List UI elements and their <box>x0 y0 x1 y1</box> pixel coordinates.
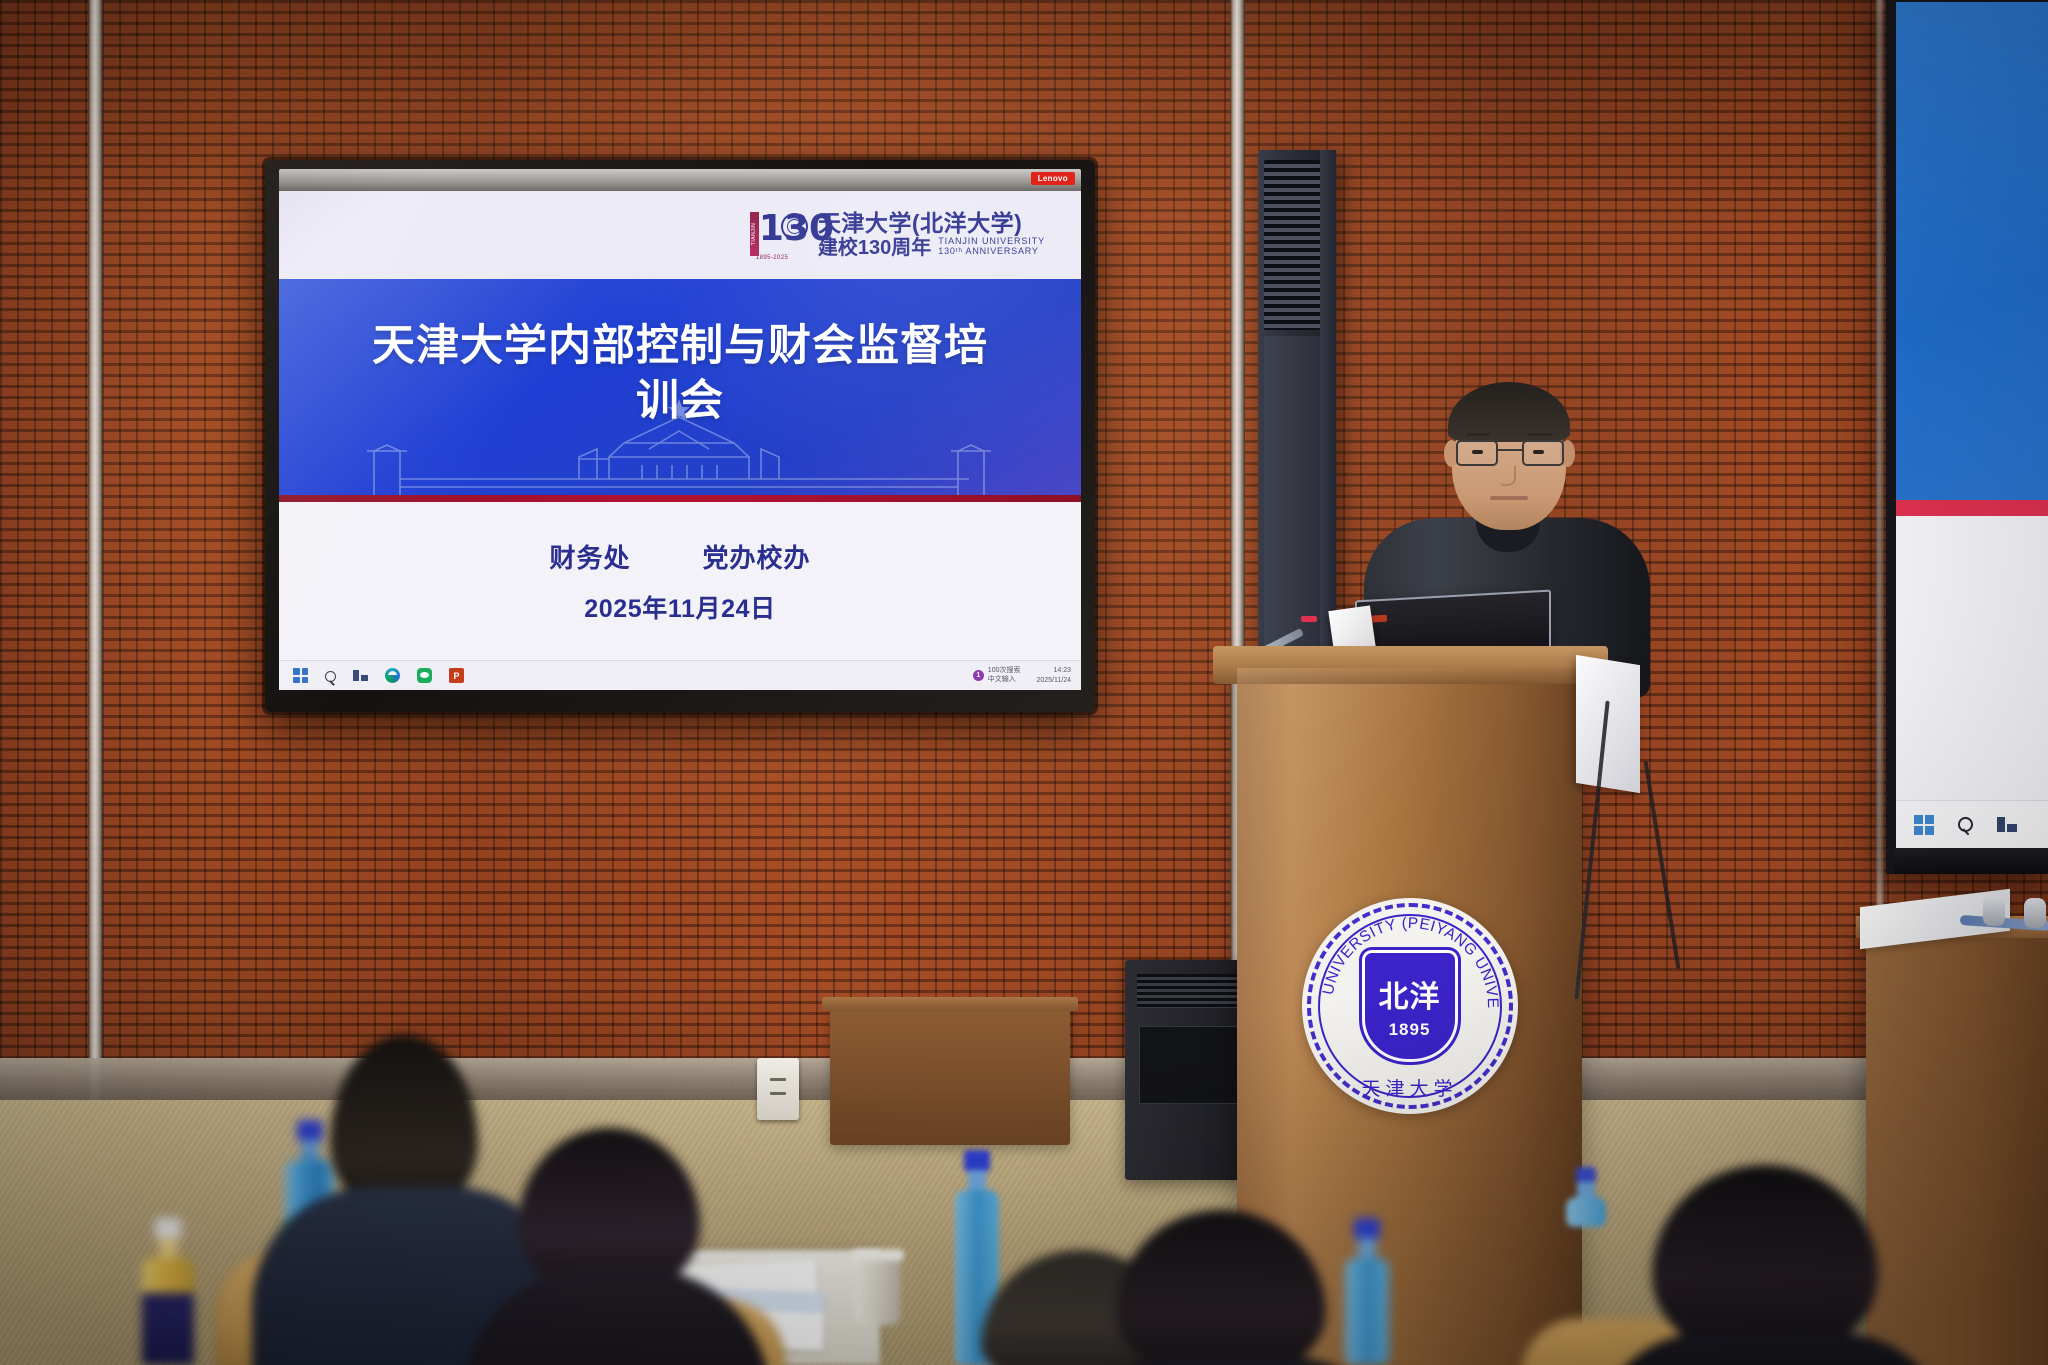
slide-title: 天津大学内部控制与财会监督培训会 <box>367 319 993 429</box>
audience-member <box>1620 1165 1920 1365</box>
anniversary-sidebar-text: TIANJIN <box>751 223 757 245</box>
water-bottle[interactable] <box>1566 1167 1606 1227</box>
powerpoint-icon[interactable]: P <box>449 668 464 683</box>
presenter-eye-right <box>1533 450 1544 454</box>
presenter-nose <box>1500 466 1516 486</box>
slide-footer: 财务处 党办校办 2025年11月24日 <box>279 502 1081 660</box>
display-screen[interactable]: TIANJIN 130 1895-2025 天津大学(北洋大学) 建校130周年 <box>279 191 1081 690</box>
presenter-eyebrow-right <box>1528 433 1552 436</box>
power-outlet[interactable] <box>757 1058 799 1120</box>
clock-time: 14:23 <box>1053 667 1071 674</box>
anniversary-ring-icon <box>781 213 808 240</box>
eyeglass-bridge <box>1498 449 1522 451</box>
anniversary-sidebar: TIANJIN <box>750 212 759 256</box>
secondary-display-screen[interactable] <box>1896 2 2048 848</box>
secondary-windows-taskbar[interactable] <box>1896 800 2048 848</box>
anniversary-logo: TIANJIN 130 1895-2025 天津大学(北洋大学) 建校130周年 <box>748 210 1045 260</box>
audience-shoulders <box>1594 1333 1950 1365</box>
speaker-grille <box>1264 160 1320 330</box>
organizer-list: 财务处 党办校办 <box>549 538 810 575</box>
side-microphone[interactable] <box>1983 896 2005 926</box>
beverage-bottle[interactable] <box>142 1218 194 1365</box>
clock-date: 2025/11/24 <box>1036 677 1071 684</box>
taskbar-clock[interactable]: 14:23 2025/11/24 <box>1036 666 1071 684</box>
bottle-cap <box>964 1150 990 1172</box>
university-name-cn: 天津大学(北洋大学) <box>818 211 1045 237</box>
task-view-icon[interactable] <box>1997 815 2017 835</box>
audience-member <box>490 1128 740 1365</box>
emblem-founded-year: 1895 <box>1389 1020 1431 1040</box>
display-bezel: Lenovo <box>279 169 1081 191</box>
conference-room-photo: Lenovo TIANJIN 130 1895-2025 <box>0 0 2048 1365</box>
start-icon[interactable] <box>293 668 308 683</box>
search-icon[interactable] <box>325 671 336 682</box>
taskbar-system-tray[interactable]: 1 100次搜索 中文输入 14:23 2025/11/24 <box>973 661 1071 690</box>
rack-slot <box>1139 1026 1242 1104</box>
secondary-display-bezel <box>1894 848 2048 874</box>
audience-head <box>1116 1210 1326 1365</box>
organizer-party-office: 党办校办 <box>703 538 811 575</box>
anniversary-en: 130ᵗʰ ANNIVERSARY <box>938 247 1045 257</box>
edge-browser-icon[interactable] <box>385 668 400 683</box>
windows-taskbar[interactable]: P 1 100次搜索 中文输入 14:23 2025/11/24 <box>279 660 1081 690</box>
organizer-finance: 财务处 <box>549 538 630 575</box>
task-view-icon[interactable] <box>353 668 368 683</box>
laptop-indicator <box>1371 615 1387 623</box>
slide-date: 2025年11月24日 <box>584 589 775 625</box>
slide-accent-rule <box>279 495 1081 502</box>
audience-shoulders <box>464 1268 770 1365</box>
anniversary-mark-icon: TIANJIN 130 1895-2025 <box>748 210 808 260</box>
bottle-body <box>1345 1258 1389 1365</box>
start-icon[interactable] <box>1914 815 1934 835</box>
university-emblem: TIANJIN UNIVERSITY (PEIYANG UNIVERSITY) … <box>1302 898 1518 1114</box>
secondary-slide-footer <box>1896 516 2048 800</box>
main-display-panel[interactable]: Lenovo TIANJIN 130 1895-2025 <box>265 160 1095 712</box>
rack-vent <box>1137 974 1248 1008</box>
ime-badge: 1 <box>973 670 984 681</box>
ime-status-line2: 中文输入 <box>988 676 1016 683</box>
audience-member <box>1090 1210 1370 1365</box>
emblem-bottom-text: 天津大学 <box>1302 1074 1518 1101</box>
slide-header: TIANJIN 130 1895-2025 天津大学(北洋大学) 建校130周年 <box>279 191 1081 279</box>
bottle-cap <box>155 1218 181 1240</box>
side-microphone[interactable] <box>2024 898 2046 928</box>
slide-body: 天津大学内部控制与财会监督培训会 <box>279 279 1081 495</box>
microphone-indicator-light <box>1301 616 1317 622</box>
wechat-icon[interactable] <box>417 668 432 683</box>
bottle-cap <box>1354 1218 1380 1240</box>
secondary-display-panel[interactable] <box>1886 0 2048 874</box>
presenter-eyebrow-left <box>1466 433 1490 436</box>
presenter-mouth <box>1490 496 1528 500</box>
lenovo-logo: Lenovo <box>1031 172 1075 185</box>
audience-member <box>300 1035 520 1365</box>
search-icon[interactable] <box>1958 817 1973 832</box>
secondary-slide-body <box>1896 2 2048 500</box>
bottle-body <box>142 1258 194 1365</box>
speaker-side-panel <box>1320 150 1336 690</box>
water-bottle[interactable] <box>1345 1218 1389 1365</box>
ime-status-line1: 100次搜索 <box>988 667 1021 674</box>
emblem-shield: 北洋 1895 <box>1362 950 1458 1062</box>
anniversary-years: 1895-2025 <box>756 255 788 261</box>
audience-head <box>1652 1165 1878 1355</box>
paper-cup[interactable] <box>855 1255 901 1325</box>
side-table <box>830 1005 1070 1145</box>
papers-beside-lectern[interactable] <box>1576 655 1640 793</box>
presenter-eye-left <box>1472 450 1483 454</box>
ime-status-indicator[interactable]: 1 100次搜索 中文输入 <box>973 667 1021 685</box>
audience-head <box>330 1035 478 1211</box>
presentation-slide: TIANJIN 130 1895-2025 天津大学(北洋大学) 建校130周年 <box>279 191 1081 660</box>
bottle-body <box>1566 1197 1606 1227</box>
bottle-cap <box>1576 1167 1596 1183</box>
secondary-slide-accent-rule <box>1896 500 2048 516</box>
anniversary-wordmark: 天津大学(北洋大学) 建校130周年 TIANJIN UNIVERSITY 13… <box>818 211 1045 259</box>
emblem-shield-text: 北洋 <box>1379 972 1441 1016</box>
anniversary-subtitle-cn: 建校130周年 <box>818 237 931 259</box>
